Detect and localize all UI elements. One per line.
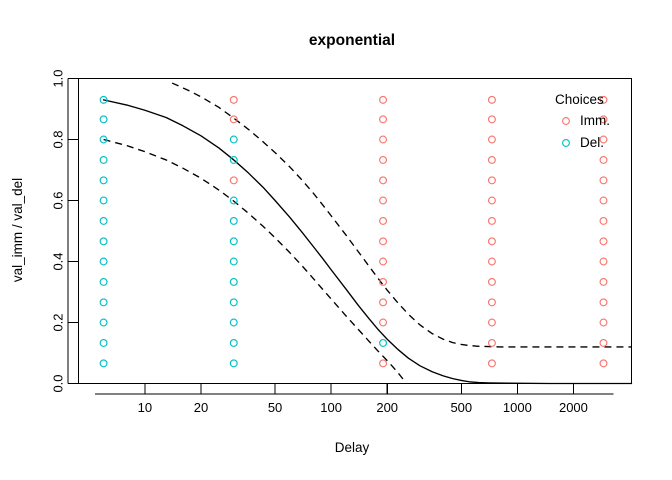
x-tick-label: 20 xyxy=(194,400,208,415)
legend-title: Choices xyxy=(555,92,604,107)
x-tick-label: 200 xyxy=(376,400,398,415)
x-tick-label: 50 xyxy=(268,400,282,415)
page-title: exponential xyxy=(309,32,395,49)
plot-canvas: exponential 0.00.20.40.60.81.0 102050100… xyxy=(0,0,672,480)
plot-svg: exponential 0.00.20.40.60.81.0 102050100… xyxy=(0,0,672,480)
y-tick-label: 0.4 xyxy=(51,252,66,270)
y-tick-label: 0.6 xyxy=(51,191,66,209)
y-tick-label: 0.0 xyxy=(51,374,66,392)
x-tick-label: 2000 xyxy=(559,400,588,415)
y-tick-label: 0.8 xyxy=(51,130,66,148)
x-tick-label: 500 xyxy=(450,400,472,415)
y-tick-label: 1.0 xyxy=(51,69,66,87)
x-axis-title: Delay xyxy=(335,440,370,455)
y-tick-label: 0.2 xyxy=(51,313,66,331)
x-tick-label: 1000 xyxy=(503,400,532,415)
x-tick-label: 10 xyxy=(138,400,152,415)
x-tick-label: 100 xyxy=(320,400,342,415)
y-axis-title: val_imm / val_del xyxy=(10,178,25,282)
legend-label: Imm. xyxy=(580,113,610,128)
legend-label: Del. xyxy=(580,135,604,150)
